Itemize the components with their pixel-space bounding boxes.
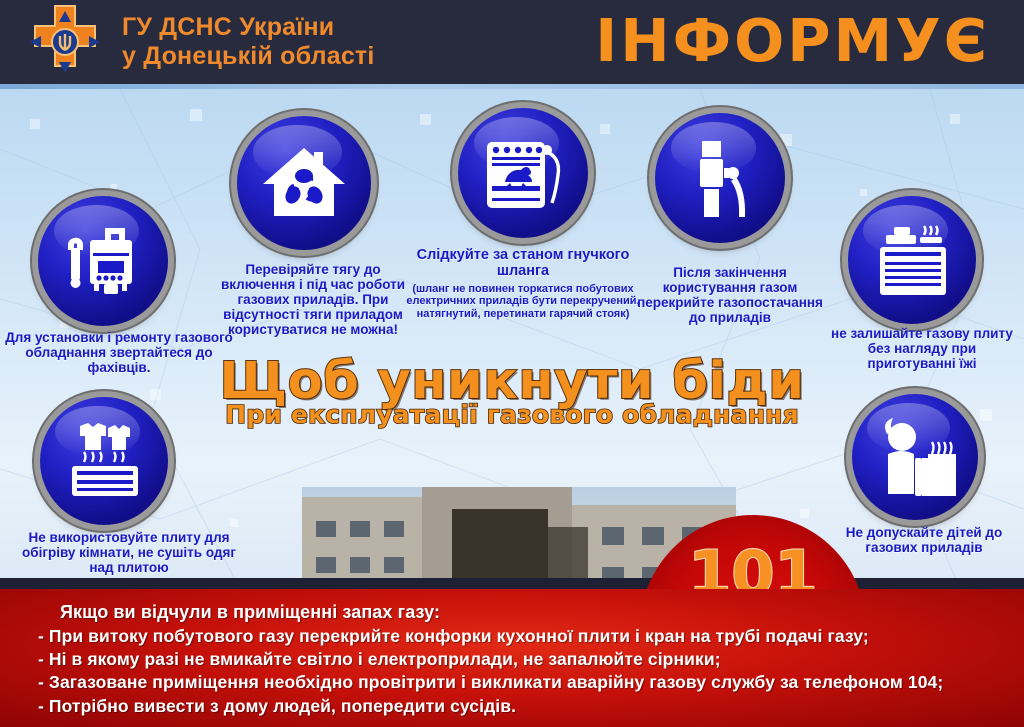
banner-line-2: - Ні в якому разі не вмикайте світло і е… (0, 648, 1024, 671)
org-line-1: ГУ ДСНС України (122, 13, 375, 43)
org-line-2: у Донецькій області (122, 42, 375, 72)
drying-clothes-over-stove-icon (58, 418, 150, 504)
safety-poster: ГУ ДСНС України у Донецькій області ІНФО… (0, 0, 1024, 727)
tip-caption-flexible-hose-strong: Слідкуйте за станом гнучкого шланга (398, 247, 648, 279)
dsns-emblem-icon (22, 3, 108, 81)
stove-pot-unattended-icon (866, 217, 958, 303)
gas-smell-instructions-banner: Якщо ви відчули в приміщенні запах газу:… (0, 589, 1024, 727)
house-ventilation-fan-icon (259, 140, 349, 226)
child-near-stove-icon (870, 414, 960, 500)
informs-headline: ІНФОРМУЄ (595, 6, 990, 75)
gas-boiler-wrench-icon (60, 218, 146, 304)
tip-caption-flexible-hose-note: (шланг не повинен торкатися побутових ел… (398, 283, 648, 320)
banner-line-4: - Потрібно вивести з дому людей, поперед… (0, 695, 1024, 718)
tip-icon-check-draft (237, 116, 371, 250)
gas-riser-valve-icon (680, 135, 760, 221)
banner-line-3: - Загазоване приміщення необхідно провіт… (0, 671, 1024, 694)
organization-name: ГУ ДСНС України у Донецькій області (122, 13, 375, 72)
tip-icon-boiler-repair (38, 196, 168, 326)
tip-icon-shut-off-gas (655, 113, 785, 243)
banner-top-edge (0, 578, 1024, 589)
tip-icon-flexible-hose (458, 108, 588, 238)
tip-icon-never-leave-stove (848, 196, 976, 324)
banner-heading: Якщо ви відчули в приміщенні запах газу: (0, 601, 1024, 625)
oven-with-hose-icon (477, 130, 569, 216)
tip-caption-no-drying-clothes: Не використовуйте плиту для обігріву кім… (14, 530, 244, 575)
poster-header: ГУ ДСНС України у Донецькій області ІНФО… (0, 0, 1024, 84)
tip-caption-shut-off-gas: Після закінчення користування газом пере… (628, 265, 832, 325)
tip-caption-check-draft: Перевіряйте тягу до включення і під час … (213, 262, 413, 338)
banner-line-1: - При витоку побутового газу перекрийте … (0, 625, 1024, 648)
